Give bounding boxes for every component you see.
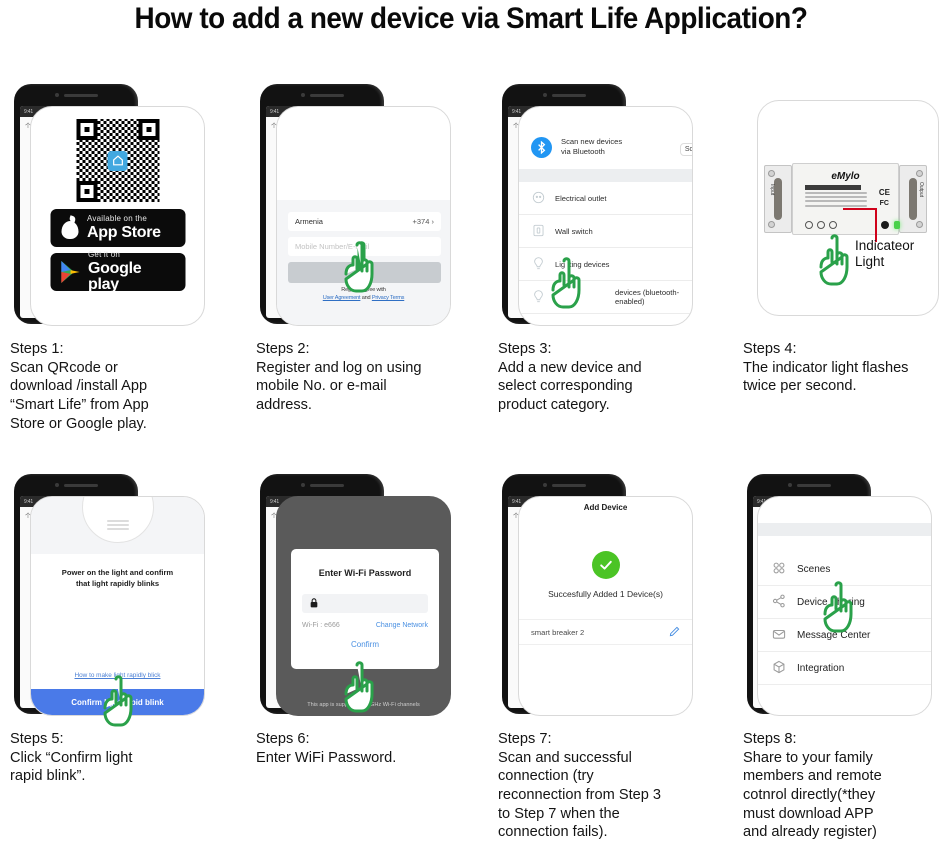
step-6-caption: Steps 6: Enter WiFi Password. — [256, 730, 482, 767]
certification-icons — [805, 221, 837, 229]
qr-eye-icon — [138, 119, 159, 140]
output-label: Output — [918, 182, 924, 197]
hand-cursor-icon — [97, 674, 143, 730]
google-play-badge[interactable]: Get it on Google play — [50, 253, 185, 291]
steps-grid: 9:41 个人登录 — [0, 78, 942, 858]
status-time: 9:41 — [270, 499, 279, 505]
list-item-electrical-outlet[interactable]: Electrical outlet — [519, 182, 692, 215]
list-separator — [519, 169, 692, 182]
status-time: 9:41 — [270, 109, 279, 115]
chevron-right-icon: › — [432, 217, 435, 226]
indicator-light-label: Indicateor Light — [855, 238, 914, 269]
added-device-row[interactable]: smart breaker 2 — [519, 619, 692, 645]
indicator-led-icon — [894, 221, 900, 229]
mounting-bracket-left — [764, 165, 792, 233]
step-card-6: 9:41 个人登录 Enter Wi-Fi Password — [248, 468, 484, 858]
lock-icon — [310, 595, 318, 613]
device-name-label: smart breaker 2 — [531, 628, 584, 637]
menu-top-band — [758, 523, 931, 536]
list-item-air-conditioner[interactable]: Air conditioner — [519, 314, 692, 326]
step-card-4: eMylo CE FC Input Output — [735, 78, 942, 468]
list-item-label: Wall switch — [555, 227, 593, 236]
wifi-dialog-title: Enter Wi-Fi Password — [291, 549, 439, 578]
hand-cursor-icon — [338, 240, 384, 296]
speaker-icon — [552, 94, 586, 97]
step-5-caption: Steps 5: Click “Confirm light rapid blin… — [10, 730, 236, 786]
bluetooth-icon — [531, 137, 552, 158]
share-icon — [772, 594, 786, 611]
status-time: 9:41 — [24, 109, 33, 115]
envelope-icon — [772, 627, 786, 644]
step-4-illustration: eMylo CE FC Input Output — [735, 78, 942, 336]
menu-item-label: Integration — [797, 663, 844, 674]
phone-notch — [14, 93, 138, 97]
ac-icon — [532, 323, 545, 327]
google-play-small-label: Get it on — [88, 251, 176, 259]
camera-icon — [543, 483, 547, 487]
wifi-dialog: Enter Wi-Fi Password — [291, 549, 439, 669]
fcc-mark-icon: FC — [880, 200, 889, 207]
app-store-small-label: Available on the — [87, 215, 161, 223]
steps-row-1: 9:41 个人登录 — [0, 78, 942, 468]
google-play-label: Google play — [88, 261, 176, 293]
app-store-label: App Store — [87, 225, 161, 241]
add-device-header: Add Device — [519, 497, 692, 517]
step-2-illustration: 9:41 个人登录 Armenia +374 › — [248, 78, 484, 336]
qr-code[interactable] — [76, 119, 159, 202]
indicator-leader-line-h — [843, 208, 877, 210]
status-time: 9:41 — [512, 109, 521, 115]
camera-icon — [788, 483, 792, 487]
store-download-card: Available on the App Store — [30, 106, 205, 326]
google-play-icon — [59, 260, 81, 284]
step-card-8: 9:41 个人登录 — [735, 468, 942, 858]
list-item-label: Air conditioner — [555, 326, 604, 327]
country-selector[interactable]: Armenia +374 › — [288, 212, 441, 231]
scenes-icon — [772, 561, 786, 578]
hand-cursor-icon — [813, 233, 859, 289]
infographic-page: How to add a new device via Smart Life A… — [0, 0, 942, 867]
ce-mark-icon: CE — [879, 188, 890, 197]
app-store-badge[interactable]: Available on the App Store — [50, 209, 185, 247]
list-item-wall-switch[interactable]: Wall switch — [519, 215, 692, 248]
blink-instruction-text: Power on the light and confirm that ligh… — [31, 567, 204, 590]
hand-cursor-icon — [545, 256, 591, 312]
step-card-3: 9:41 个人登录 — [490, 78, 726, 468]
device-body: eMylo CE FC Input Output — [792, 163, 899, 235]
step-7-illustration: 9:41 个人登录 Add Device S — [490, 468, 726, 726]
wifi-name-label: Wi-Fi : e666 — [302, 622, 340, 629]
speaker-icon — [64, 94, 98, 97]
wifi-confirm-button[interactable]: Confirm — [291, 629, 439, 649]
model-strip — [805, 185, 861, 190]
step-6-illustration: 9:41 个人登录 Enter Wi-Fi Password — [248, 468, 484, 726]
success-card: Add Device Succesfully Added 1 Device(s)… — [518, 496, 693, 716]
menu-item-integration[interactable]: Integration — [758, 652, 931, 685]
camera-icon — [55, 483, 59, 487]
success-check-icon — [592, 551, 620, 579]
speaker-icon — [64, 484, 98, 487]
speaker-icon — [310, 484, 344, 487]
step-8-caption: Steps 8: Share to your family members an… — [743, 730, 942, 842]
bulb-icon — [532, 256, 545, 273]
wifi-password-input[interactable] — [302, 594, 428, 613]
qr-eye-icon — [76, 181, 97, 202]
smart-switch-device: eMylo CE FC Input Output — [764, 163, 927, 237]
step-3-caption: Steps 3: Add a new device and select cor… — [498, 340, 724, 415]
camera-icon — [55, 93, 59, 97]
camera-icon — [301, 93, 305, 97]
step-card-1: 9:41 个人登录 — [2, 78, 238, 468]
camera-icon — [543, 93, 547, 97]
mounting-bracket-right — [899, 165, 927, 233]
change-network-link[interactable]: Change Network — [376, 622, 428, 629]
step-card-5: 9:41 个人登录 Power on the light and confirm… — [2, 468, 238, 858]
step-3-illustration: 9:41 个人登录 — [490, 78, 726, 336]
step-1-illustration: 9:41 个人登录 — [2, 78, 238, 336]
pencil-icon[interactable] — [669, 626, 680, 639]
apple-icon — [59, 216, 80, 240]
bluetooth-scan-label: Scan new devices via Bluetooth — [561, 137, 622, 158]
speaker-icon — [310, 94, 344, 97]
list-item-label: Electrical outlet — [555, 194, 607, 203]
indicator-leader-line-v — [875, 208, 877, 242]
country-label: Armenia — [295, 217, 323, 226]
step-card-7: 9:41 个人登录 Add Device S — [490, 468, 726, 858]
menu-item-label: Scenes — [797, 564, 830, 575]
step-1-caption: Steps 1: Scan QRcode or download /instal… — [10, 340, 236, 433]
hand-cursor-icon — [817, 580, 863, 636]
input-label: Input — [769, 184, 775, 195]
bulb-icon — [532, 289, 545, 306]
speaker-icon — [797, 484, 831, 487]
step-5-illustration: 9:41 个人登录 Power on the light and confirm… — [2, 468, 238, 726]
home-icon — [108, 151, 128, 171]
page-title: How to add a new device via Smart Life A… — [33, 2, 909, 36]
bluetooth-scan-header[interactable]: Scan new devices via Bluetooth Sc — [519, 119, 692, 175]
cube-icon — [772, 660, 786, 677]
success-message: Succesfully Added 1 Device(s) — [519, 589, 692, 599]
country-code: +374 — [413, 217, 430, 226]
spec-text-lines — [805, 192, 867, 209]
steps-row-2: 9:41 个人登录 Power on the light and confirm… — [0, 468, 942, 858]
camera-icon — [301, 483, 305, 487]
qr-eye-icon — [76, 119, 97, 140]
scan-button[interactable]: Sc — [680, 143, 693, 156]
speaker-icon — [552, 484, 586, 487]
step-card-2: 9:41 个人登录 Armenia +374 › — [248, 78, 484, 468]
switch-icon — [532, 224, 545, 239]
hand-cursor-icon — [338, 660, 384, 716]
outlet-icon — [532, 191, 545, 206]
step-4-caption: Steps 4: The indicator light flashes twi… — [743, 340, 942, 396]
step-2-caption: Steps 2: Register and log on using mobil… — [256, 340, 482, 415]
step-7-caption: Steps 7: Scan and successful connection … — [498, 730, 724, 842]
pair-button[interactable] — [881, 221, 889, 229]
brand-label: eMylo — [793, 171, 898, 182]
step-8-illustration: 9:41 个人登录 — [735, 468, 942, 726]
